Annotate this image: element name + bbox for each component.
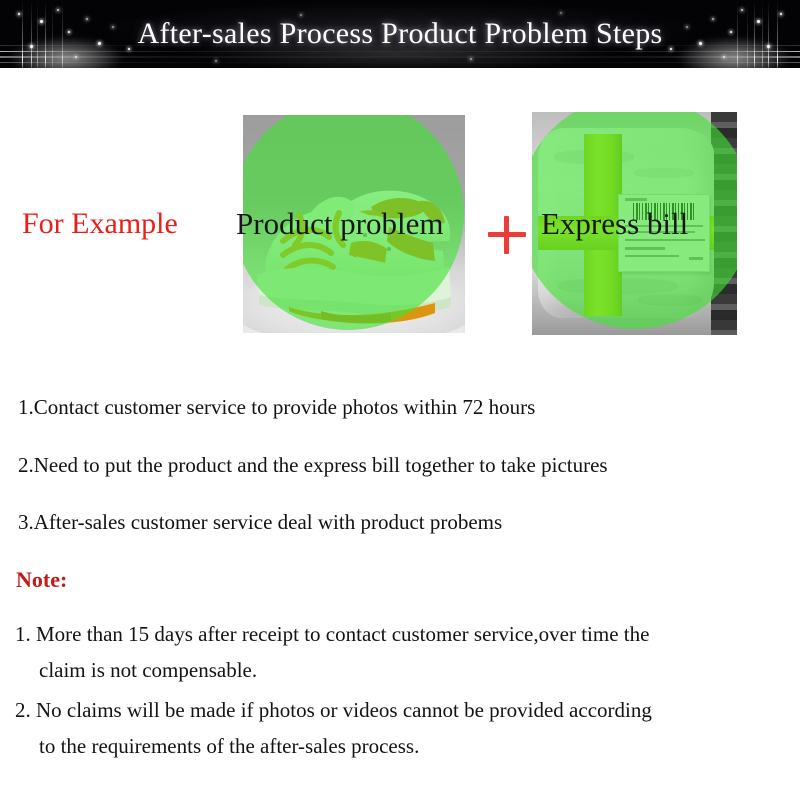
note-item-line-1: No claims will be made if photos or vide… [31,698,652,722]
note-item-line-2: claim is not compensable. [15,652,795,688]
note-item-number: 2. [15,698,31,722]
page-title: After-sales Process Product Problem Step… [0,17,800,51]
note-item-number: 1. [15,622,31,646]
step-item: 1.Contact customer service to provide ph… [18,394,535,420]
note-item: 1. More than 15 days after receipt to co… [15,616,795,688]
plus-icon [488,216,526,254]
note-item: 2. No claims will be made if photos or v… [15,692,795,764]
note-heading: Note: [16,566,67,593]
for-example-label: For Example [22,207,178,241]
note-item-line-1: More than 15 days after receipt to conta… [31,622,650,646]
header-banner: After-sales Process Product Problem Step… [0,0,800,68]
example-section: For Example [0,68,800,358]
product-problem-caption: Product problem [236,207,444,241]
note-item-line-2: to the requirements of the after-sales p… [15,728,795,764]
express-bill-caption: Express bill [541,207,688,241]
step-item: 3.After-sales customer service deal with… [18,509,502,535]
step-item: 2.Need to put the product and the expres… [18,452,608,478]
